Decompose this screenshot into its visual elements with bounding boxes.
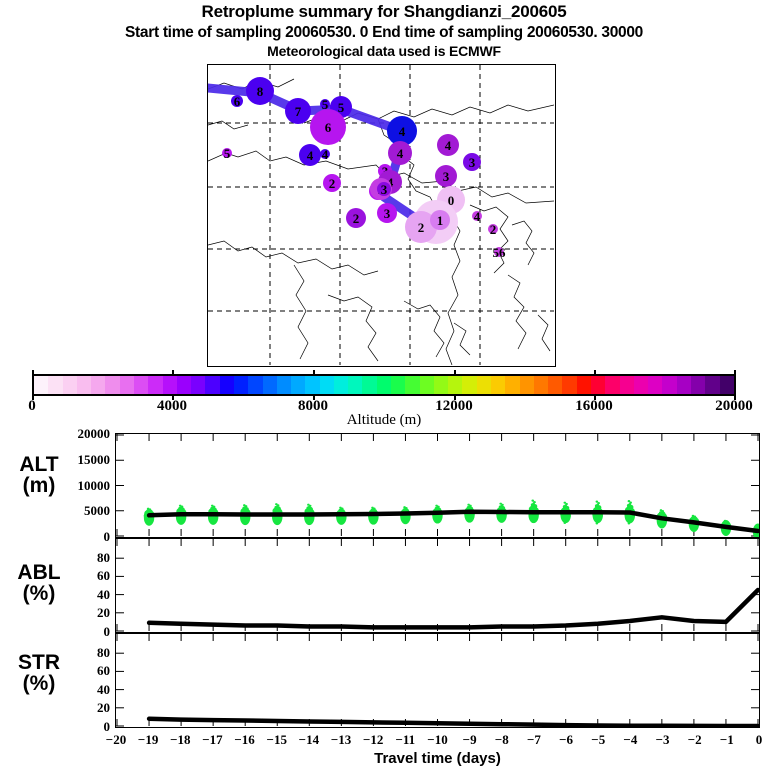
- y-tick-label: 15000: [58, 452, 110, 468]
- panel-str-plot: [116, 634, 759, 727]
- y-tick-label: 80: [58, 550, 110, 566]
- x-tick-label: −16: [234, 732, 254, 748]
- colorbar-axis-title: Altitude (m): [0, 412, 768, 429]
- sampling-time-line: Start time of sampling 20060530. 0 End t…: [0, 24, 768, 42]
- y-tick-label: 40: [58, 682, 110, 698]
- colorbar-swatch-21: [334, 376, 348, 394]
- plume-marker[interactable]: 6: [310, 109, 346, 145]
- plume-marker-label: 8: [257, 85, 264, 98]
- plume-marker[interactable]: 4: [472, 211, 482, 221]
- x-tick-label: −13: [331, 732, 351, 748]
- plume-marker[interactable]: 2: [346, 208, 366, 228]
- plume-marker[interactable]: 3: [435, 165, 457, 187]
- colorbar-swatch-23: [362, 376, 376, 394]
- y-tick-label: 20: [58, 605, 110, 621]
- colorbar-swatch-29: [448, 376, 462, 394]
- colorbar-swatch-35: [534, 376, 548, 394]
- plume-marker[interactable]: 2: [323, 174, 341, 192]
- x-axis-title: Travel time (days): [115, 750, 760, 767]
- plume-marker[interactable]: 56: [494, 247, 504, 257]
- panel-str-mean-line: [149, 719, 758, 726]
- x-tick-label: −11: [395, 732, 415, 748]
- plume-marker-label: 4: [445, 139, 452, 152]
- colorbar-swatch-37: [562, 376, 576, 394]
- str-panel[interactable]: [115, 633, 760, 728]
- colorbar-swatch-22: [348, 376, 362, 394]
- colorbar-swatch-3: [77, 376, 91, 394]
- colorbar-swatch-48: [720, 376, 734, 394]
- colorbar-swatch-47: [705, 376, 719, 394]
- plume-marker[interactable]: 3: [377, 182, 391, 196]
- alt-panel[interactable]: [115, 433, 760, 538]
- colorbar-swatch-24: [377, 376, 391, 394]
- plume-marker[interactable]: 1: [430, 210, 450, 230]
- plume-marker-label: 2: [490, 223, 497, 236]
- plume-marker[interactable]: 5: [320, 99, 330, 109]
- x-tick-label: −18: [170, 732, 190, 748]
- colorbar-swatch-36: [548, 376, 562, 394]
- colorbar-swatch-38: [577, 376, 591, 394]
- plume-marker-label: 2: [329, 177, 336, 190]
- y-tick-label: 10000: [58, 478, 110, 494]
- title-block: Retroplume summary for Shangdianzi_20060…: [0, 2, 768, 59]
- x-tick-label: −12: [363, 732, 383, 748]
- plume-marker[interactable]: 4: [437, 134, 459, 156]
- y-tick-label: 0: [58, 624, 110, 640]
- x-tick-label: −4: [623, 732, 637, 748]
- x-tick-label: −1: [720, 732, 734, 748]
- colorbar-swatch-41: [620, 376, 634, 394]
- y-tick-label: 60: [58, 568, 110, 584]
- y-tick-label: 0: [58, 719, 110, 735]
- colorbar-swatch-15: [248, 376, 262, 394]
- colorbar-swatch-10: [177, 376, 191, 394]
- x-tick-label: −14: [299, 732, 319, 748]
- colorbar-swatch-20: [320, 376, 334, 394]
- y-tick-label: 80: [58, 645, 110, 661]
- abl-panel[interactable]: [115, 538, 760, 633]
- colorbar-swatch-27: [420, 376, 434, 394]
- plume-marker-label: 4: [307, 149, 314, 162]
- plume-marker[interactable]: 5: [222, 148, 232, 158]
- x-tick-label: −15: [267, 732, 287, 748]
- plume-marker[interactable]: 7: [285, 98, 311, 124]
- y-tick-label: 40: [58, 587, 110, 603]
- plume-marker[interactable]: 2: [488, 224, 498, 234]
- x-tick-label: −5: [591, 732, 605, 748]
- plume-marker[interactable]: 4: [320, 149, 330, 159]
- plume-marker-label: 4: [474, 210, 481, 223]
- colorbar-swatch-26: [405, 376, 419, 394]
- colorbar-swatch-46: [691, 376, 705, 394]
- colorbar-swatch-5: [105, 376, 119, 394]
- colorbar-swatch-16: [263, 376, 277, 394]
- colorbar-swatch-30: [462, 376, 476, 394]
- colorbar-swatch-40: [605, 376, 619, 394]
- plume-marker-label: 1: [437, 214, 444, 227]
- colorbar-swatch-11: [191, 376, 205, 394]
- colorbar-swatch-7: [134, 376, 148, 394]
- plume-marker[interactable]: 3: [463, 153, 481, 171]
- panel-alt-plot: [116, 434, 759, 537]
- x-tick-label: −7: [527, 732, 541, 748]
- x-tick-label: −19: [138, 732, 158, 748]
- colorbar-swatch-45: [677, 376, 691, 394]
- plume-marker[interactable]: 8: [246, 77, 274, 105]
- y-tick-label: 5000: [58, 503, 110, 519]
- plume-marker-label: 56: [493, 246, 506, 259]
- y-tick-label: 20000: [58, 426, 110, 442]
- colorbar-swatch-42: [634, 376, 648, 394]
- panel-abl-mean-line: [149, 590, 758, 627]
- retroplume-map[interactable]: 867556544444333433032321214256: [207, 64, 556, 367]
- x-tick-label: −3: [656, 732, 670, 748]
- colorbar-swatch-2: [63, 376, 77, 394]
- x-tick-label: −2: [688, 732, 702, 748]
- plume-marker-label: 4: [322, 148, 329, 161]
- plume-marker-label: 5: [224, 147, 231, 160]
- x-tick-label: −9: [463, 732, 477, 748]
- plume-marker[interactable]: 4: [388, 141, 412, 165]
- plume-marker[interactable]: 6: [231, 95, 243, 107]
- meteorology-line: Meteorological data used is ECMWF: [0, 43, 768, 59]
- colorbar-swatch-13: [220, 376, 234, 394]
- panel-abl-plot: [116, 539, 759, 632]
- altitude-colorbar[interactable]: [32, 374, 736, 396]
- colorbar-swatch-39: [591, 376, 605, 394]
- x-tick-label: −20: [106, 732, 126, 748]
- y-tick-label: 20: [58, 700, 110, 716]
- colorbar-swatch-43: [648, 376, 662, 394]
- x-tick-label: −6: [559, 732, 573, 748]
- colorbar-swatch-9: [163, 376, 177, 394]
- page-title: Retroplume summary for Shangdianzi_20060…: [0, 2, 768, 22]
- colorbar-swatch-25: [391, 376, 405, 394]
- colorbar-swatch-32: [491, 376, 505, 394]
- plume-marker-label: 4: [399, 125, 406, 138]
- colorbar-swatch-0: [34, 376, 48, 394]
- colorbar-swatch-14: [234, 376, 248, 394]
- colorbar-swatch-18: [291, 376, 305, 394]
- x-tick-label: 0: [756, 732, 763, 748]
- plume-marker-label: 7: [295, 105, 302, 118]
- colorbar-swatch-12: [205, 376, 219, 394]
- x-tick-label: −8: [495, 732, 509, 748]
- plume-marker-label: 3: [381, 183, 388, 196]
- plume-marker[interactable]: 3: [377, 203, 397, 223]
- plume-marker-label: 3: [443, 170, 450, 183]
- y-tick-label: 60: [58, 663, 110, 679]
- colorbar-swatch-1: [48, 376, 62, 394]
- colorbar-swatch-6: [120, 376, 134, 394]
- plume-marker-label: 6: [325, 121, 332, 134]
- plume-marker-label: 2: [353, 212, 360, 225]
- x-tick-label: −17: [202, 732, 222, 748]
- colorbar-swatch-17: [277, 376, 291, 394]
- plume-marker-label: 2: [418, 221, 425, 234]
- colorbar-swatch-4: [91, 376, 105, 394]
- colorbar-swatch-31: [477, 376, 491, 394]
- plume-marker-label: 3: [384, 207, 391, 220]
- colorbar-swatch-44: [662, 376, 676, 394]
- y-tick-label: 0: [58, 529, 110, 545]
- colorbar-swatch-8: [148, 376, 162, 394]
- x-tick-label: −10: [427, 732, 447, 748]
- colorbar-swatch-19: [305, 376, 319, 394]
- plume-marker-label: 6: [234, 95, 241, 108]
- plume-marker[interactable]: 4: [299, 144, 321, 166]
- colorbar-swatch-33: [505, 376, 519, 394]
- plume-marker-label: 3: [469, 156, 476, 169]
- colorbar-swatch-34: [520, 376, 534, 394]
- plume-marker-label: 4: [397, 147, 404, 160]
- colorbar-swatch-28: [434, 376, 448, 394]
